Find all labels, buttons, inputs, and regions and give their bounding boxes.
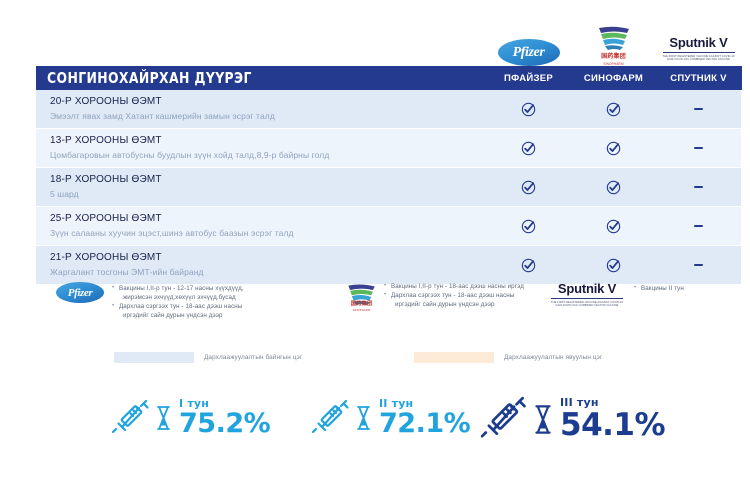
table-header-district: СОНГИНОХАЙРХАН ДҮҮРЭГ (36, 69, 450, 87)
table-cell-sputnik (656, 168, 741, 206)
sputnik-logo-subtext: THE FIRST REGISTERED VACCINE AGAINST COV… (548, 301, 626, 308)
point-title: 20-Р ХОРООНЫ ӨЭМТ (50, 94, 486, 109)
dash-icon (694, 264, 703, 267)
table-cell-point: 20-Р ХОРООНЫ ӨЭМТЭмээлт явах замд Хатант… (36, 90, 486, 128)
table-cell-sputnik (656, 129, 741, 167)
syringe-icon (308, 396, 352, 440)
hourglass-icon (156, 405, 171, 431)
dose-coverage-stats: I тун 75.2% (36, 392, 736, 464)
vaccination-points-table: СОНГИНОХАЙРХАН ДҮҮРЭГ ПФАЙЗЕР СИНОФАРМ С… (36, 66, 742, 284)
point-title: 18-Р ХОРООНЫ ӨЭМТ (50, 172, 486, 187)
color-key-mobile: Дархлаажуулалтын явуулын цэг (414, 352, 602, 363)
note-line: иргэдийг сайн дурын үндсэн дээр (384, 300, 524, 309)
sinopharm-logo-small: 国药集团 SINOPHARM (342, 284, 374, 312)
hourglass-icon (534, 404, 552, 435)
stat-text-3: III тун 54.1% (560, 397, 665, 441)
note-lines-pfizer: Вакцины I,II-р тун - 12-17 насны хүүхдүү… (112, 282, 244, 320)
table-cell-sputnik (656, 90, 741, 128)
pfizer-logo: Pfizer (498, 39, 560, 66)
table-cell-point: 13-Р ХОРООНЫ ӨЭМТЦомбагаровын автобусны … (36, 129, 486, 167)
color-key-label: Дархлаажуулалтын байнгын цэг (204, 354, 302, 361)
color-key-permanent: Дархлаажуулалтын байнгын цэг (114, 352, 302, 363)
note-group-sinopharm: 国药集团 SINOPHARM Вакцины I,II-р тун - 18-а… (340, 280, 524, 312)
dash-icon (694, 147, 703, 150)
stat-dose-1: I тун 75.2% (108, 396, 270, 440)
table-header-sinopharm: СИНОФАРМ (571, 73, 656, 84)
brand-logo-strip: Pfizer 国药集团 SINOPHARM Sputnik V THE FIRS… (486, 22, 742, 66)
dash-icon (694, 108, 703, 111)
stat-percent-value: 75.2% (179, 410, 270, 438)
table-cell-point: 18-Р ХОРООНЫ ӨЭМТ5 шард (36, 168, 486, 206)
note-line: Вакцины I,II-р тун - 18-аас дээш насны и… (384, 282, 524, 291)
stat-dose-2: II тун 72.1% (308, 396, 470, 440)
note-line: Дархлаа сэргээх тун - 18-аас дээш насны (384, 291, 524, 300)
pfizer-logo-cell: Pfizer (486, 22, 571, 66)
sinopharm-logo-cell: 国药集团 SINOPHARM (571, 22, 656, 66)
note-line: Дархлаа сэргээх тун - 18-аас дээш насны (112, 302, 244, 311)
table-cell-sputnik (656, 207, 741, 245)
note-lines-sinopharm: Вакцины I,II-р тун - 18-аас дээш насны и… (384, 280, 524, 309)
check-circle-icon (521, 258, 536, 273)
dash-icon (694, 186, 703, 189)
sputnik-logo-rule (551, 298, 623, 299)
table-row: 18-Р ХОРООНЫ ӨЭМТ5 шард (36, 167, 742, 206)
note-lines-sputnik: Вакцины II тун (634, 282, 684, 293)
check-circle-icon (606, 258, 621, 273)
table-header-sputnik: СПУТНИК V (656, 73, 741, 84)
dash-icon (694, 225, 703, 228)
table-cell-sinopharm (571, 129, 656, 167)
table-header-pfizer: ПФАЙЗЕР (486, 73, 571, 84)
stat-percent-value: 54.1% (560, 409, 665, 441)
color-swatch-mobile (414, 352, 494, 363)
table-cell-pfizer (486, 129, 571, 167)
syringe-icon (476, 392, 530, 446)
sputnik-logo-text: Sputnik V (548, 282, 626, 296)
sinopharm-mark-icon (596, 26, 632, 51)
point-title: 13-Р ХОРООНЫ ӨЭМТ (50, 133, 486, 148)
check-circle-icon (606, 102, 621, 117)
sputnik-logo-text: Sputnik V (660, 36, 738, 50)
table-cell-pfizer (486, 207, 571, 245)
check-circle-icon (606, 180, 621, 195)
table-cell-pfizer (486, 90, 571, 128)
vaccination-infographic: Pfizer 国药集团 SINOPHARM Sputnik V THE FIRS… (0, 0, 750, 500)
table-row: 20-Р ХОРООНЫ ӨЭМТЭмээлт явах замд Хатант… (36, 90, 742, 128)
sputnik-logo-small: Sputnik V THE FIRST REGISTERED VACCINE A… (548, 282, 626, 312)
sinopharm-cn-text: 国药集团 (342, 299, 381, 307)
note-line: иргэдийг сайн дурын үндсэн дээр (112, 311, 244, 320)
stat-percent-value: 72.1% (379, 410, 470, 438)
table-cell-sinopharm (571, 90, 656, 128)
color-key-label: Дархлаажуулалтын явуулын цэг (504, 354, 602, 361)
check-circle-icon (521, 141, 536, 156)
point-address: Цомбагаровын автобусны буудлын зүүн хойд… (50, 148, 486, 163)
sputnik-logo: Sputnik V THE FIRST REGISTERED VACCINE A… (660, 36, 738, 66)
stat-text-1: I тун 75.2% (179, 398, 270, 438)
color-key-legend: Дархлаажуулалтын байнгын цэг Дархлаажуул… (36, 352, 736, 374)
check-circle-icon (606, 219, 621, 234)
stat-dose-3: III тун 54.1% (476, 392, 665, 446)
point-address: Эмээлт явах замд Хатант кашмерийн замын … (50, 109, 486, 124)
pfizer-logo-small-text: Pfizer (68, 287, 92, 299)
sputnik-logo-cell: Sputnik V THE FIRST REGISTERED VACCINE A… (656, 22, 741, 66)
note-group-sputnik: Sputnik V THE FIRST REGISTERED VACCINE A… (548, 282, 684, 312)
table-cell-pfizer (486, 168, 571, 206)
hourglass-icon (356, 405, 371, 431)
sinopharm-en-text: SINOPHARM (342, 308, 381, 312)
sinopharm-cn-text: 国药集团 (592, 51, 636, 60)
check-circle-icon (521, 219, 536, 234)
sputnik-logo-subtext: THE FIRST REGISTERED VACCINE AGAINST COV… (660, 55, 738, 62)
note-line: жирэмсэн эхчүүд,хөхүүл эхчүүд,бусад (112, 293, 244, 302)
note-group-pfizer: Pfizer Вакцины I,II-р тун - 12-17 насны … (56, 282, 244, 320)
table-row: 25-Р ХОРООНЫ ӨЭМТЗүүн салааны хуучин эцэ… (36, 206, 742, 245)
check-circle-icon (521, 102, 536, 117)
table-body: 20-Р ХОРООНЫ ӨЭМТЭмээлт явах замд Хатант… (36, 90, 742, 284)
point-title: 21-Р ХОРООНЫ ӨЭМТ (50, 250, 486, 265)
note-line: Вакцины II тун (634, 284, 684, 293)
sinopharm-logo: 国药集团 SINOPHARM (592, 26, 636, 66)
sputnik-logo-rule (663, 52, 735, 53)
syringe-icon (108, 396, 152, 440)
color-swatch-permanent (114, 352, 194, 363)
stat-text-2: II тун 72.1% (379, 398, 470, 438)
note-line: Вакцины I,II-р тун - 12-17 насны хүүхдүү… (112, 284, 244, 293)
table-cell-sinopharm (571, 168, 656, 206)
table-row: 13-Р ХОРООНЫ ӨЭМТЦомбагаровын автобусны … (36, 128, 742, 167)
pfizer-logo-small: Pfizer (56, 282, 104, 303)
pfizer-logo-text: Pfizer (513, 45, 545, 61)
brand-notes: Pfizer Вакцины I,II-р тун - 12-17 насны … (36, 278, 736, 340)
table-header-row: СОНГИНОХАЙРХАН ДҮҮРЭГ ПФАЙЗЕР СИНОФАРМ С… (36, 66, 742, 90)
check-circle-icon (606, 141, 621, 156)
point-address: 5 шард (50, 187, 486, 202)
check-circle-icon (521, 180, 536, 195)
point-address: Зүүн салааны хуучин эцэст,шинэ автобус б… (50, 226, 486, 241)
table-cell-sinopharm (571, 207, 656, 245)
point-title: 25-Р ХОРООНЫ ӨЭМТ (50, 211, 486, 226)
table-cell-point: 25-Р ХОРООНЫ ӨЭМТЗүүн салааны хуучин эцэ… (36, 207, 486, 245)
